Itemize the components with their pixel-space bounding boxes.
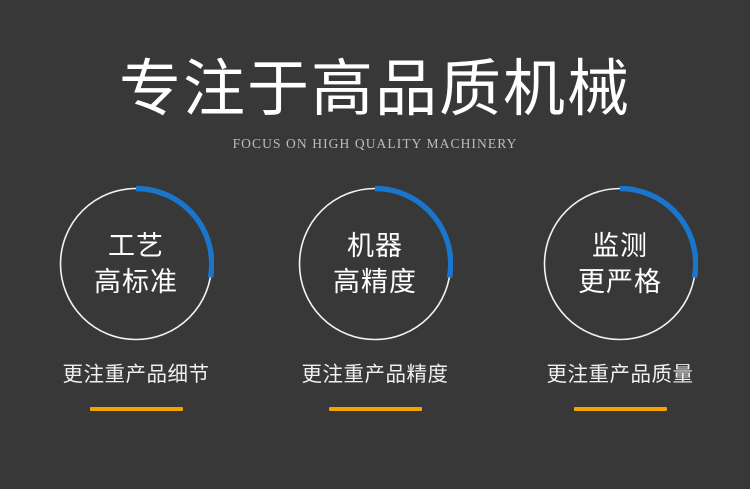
feature-item-craft: 工艺 高标准 更注重产品细节 — [16, 186, 256, 436]
ring-line-secondary: 更严格 — [578, 264, 662, 300]
feature-item-machine: 机器 高精度 更注重产品精度 — [255, 186, 495, 436]
ring-label-inspection: 监测 更严格 — [542, 186, 698, 342]
feature-caption: 更注重产品质量 — [500, 362, 740, 388]
page-subtitle: FOCUS ON HIGH QUALITY MACHINERY — [0, 136, 750, 152]
progress-ring-inspection: 监测 更严格 — [542, 186, 698, 342]
caption-underline — [329, 407, 422, 411]
ring-line-secondary: 高精度 — [333, 264, 417, 300]
ring-label-machine: 机器 高精度 — [297, 186, 453, 342]
progress-ring-machine: 机器 高精度 — [297, 186, 453, 342]
ring-label-craft: 工艺 高标准 — [58, 186, 214, 342]
ring-line-secondary: 高标准 — [94, 264, 178, 300]
caption-underline — [90, 407, 183, 411]
feature-caption: 更注重产品细节 — [16, 362, 256, 388]
ring-line-primary: 监测 — [592, 228, 648, 264]
banner-header: 专注于高品质机械 FOCUS ON HIGH QUALITY MACHINERY — [0, 54, 750, 152]
feature-list: 工艺 高标准 更注重产品细节 机器 高精度 更注重产品精度 — [0, 186, 750, 436]
progress-ring-craft: 工艺 高标准 — [58, 186, 214, 342]
ring-line-primary: 机器 — [347, 228, 403, 264]
promo-banner: 专注于高品质机械 FOCUS ON HIGH QUALITY MACHINERY… — [0, 0, 750, 489]
feature-item-inspection: 监测 更严格 更注重产品质量 — [500, 186, 740, 436]
page-title: 专注于高品质机械 — [0, 54, 750, 126]
ring-line-primary: 工艺 — [108, 228, 164, 264]
feature-caption: 更注重产品精度 — [255, 362, 495, 388]
caption-underline — [574, 407, 667, 411]
